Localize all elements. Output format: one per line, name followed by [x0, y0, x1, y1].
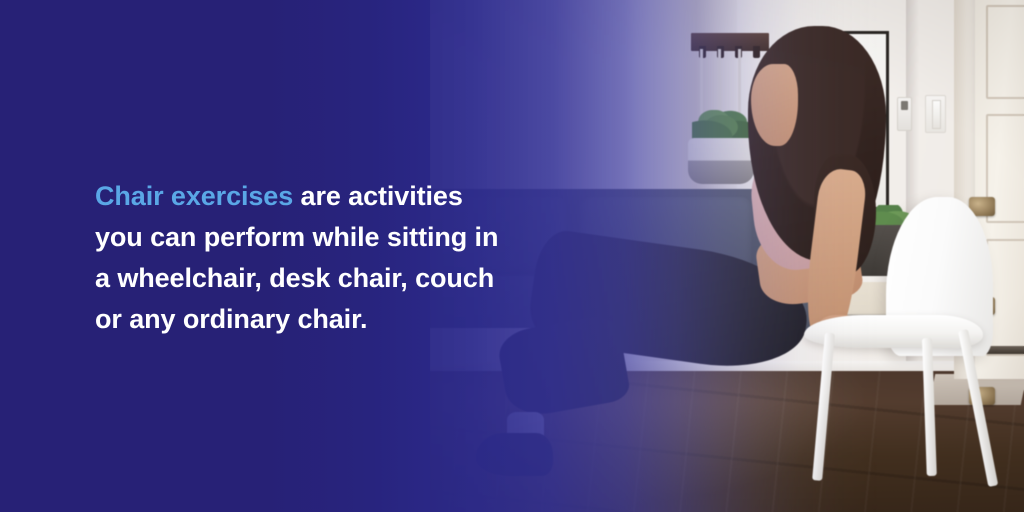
copy-block: Chair exercises are activities you can p…: [95, 176, 515, 340]
chair-exercises-hero-banner: Chair exercises are activities you can p…: [0, 0, 1024, 512]
woman-sneaker: [476, 433, 553, 477]
woman-shin: [495, 313, 631, 420]
headline: Chair exercises are activities you can p…: [95, 176, 515, 340]
headline-accent: Chair exercises: [95, 181, 293, 211]
